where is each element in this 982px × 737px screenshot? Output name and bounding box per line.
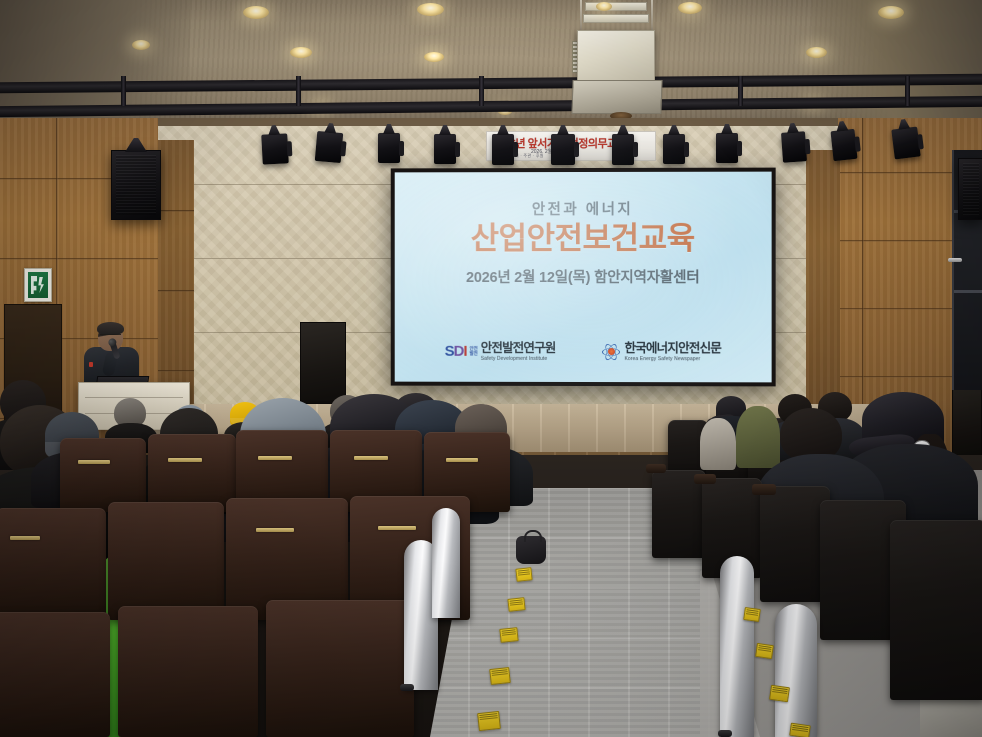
truss-post <box>738 76 743 106</box>
ceiling-downlight <box>290 47 312 58</box>
light-jacket <box>700 418 736 470</box>
projector-mount-plate <box>585 2 647 11</box>
olive-puffer-jacket <box>736 406 780 468</box>
stage-spotlight <box>434 134 456 164</box>
step-safety-label <box>755 643 774 659</box>
hanging-speaker-right <box>958 158 982 220</box>
step-safety-label <box>789 723 811 737</box>
av-rack-cabinet <box>300 322 346 404</box>
seat-number-plate <box>78 460 110 464</box>
step-safety-label <box>769 685 790 702</box>
aisle-handrail[interactable] <box>720 556 754 737</box>
seat-number-plate <box>354 456 388 460</box>
stage-spotlight <box>830 129 857 161</box>
truss-post <box>479 76 484 106</box>
auditorium-seat[interactable] <box>108 502 224 620</box>
aisle-handrail[interactable] <box>775 604 817 737</box>
projection-screen-frame: 안전과 에너지 산업안전보건교육 2026년 2월 12일(목) 함안지역자활센… <box>391 168 776 387</box>
projection-screen: 안전과 에너지 산업안전보건교육 2026년 2월 12일(목) 함안지역자활센… <box>395 172 772 383</box>
truss-post <box>296 76 301 106</box>
atom-icon <box>601 342 621 362</box>
auditorium-seat[interactable] <box>266 600 414 737</box>
kesn-english-name: Korea Energy Safety Newspaper <box>624 356 721 362</box>
auditorium-seat[interactable] <box>148 434 236 512</box>
projector-lens-hood <box>571 80 662 114</box>
floor-bag <box>516 536 546 564</box>
projector <box>577 30 655 82</box>
truss-post <box>121 76 126 106</box>
ceiling-downlight <box>424 52 444 62</box>
step-safety-label <box>477 711 501 731</box>
ceiling-downlight <box>417 3 444 16</box>
seat-number-plate <box>10 536 40 540</box>
handrail-foot <box>718 730 732 737</box>
seat-armrest <box>752 484 776 495</box>
step-safety-label <box>515 567 532 582</box>
handrail-foot <box>400 684 414 691</box>
auditorium-seat[interactable] <box>60 438 146 512</box>
sdi-english-name: Safety Development Institute <box>481 356 556 362</box>
hanging-speaker-left <box>111 150 161 220</box>
step-safety-label <box>489 667 511 685</box>
ceiling-downlight <box>878 6 904 19</box>
ceiling-downlight <box>132 40 150 50</box>
stage-spotlight <box>663 134 685 164</box>
slide-title: 산업안전보건교육 <box>471 223 695 256</box>
glasses-icon <box>100 334 121 338</box>
auditorium-seat[interactable] <box>0 508 106 618</box>
auditorium-photo: 2026년 앞서가는 법정의무교육 2026. 2월 ~ 11월 주최 · 주관… <box>0 0 982 737</box>
stage-spotlight <box>891 127 920 160</box>
slide-eyebrow: 안전과 에너지 <box>532 198 634 219</box>
stage-spotlight <box>315 131 344 163</box>
seat-number-plate <box>168 458 202 462</box>
auditorium-seat[interactable] <box>890 520 982 700</box>
projector-hanger-wire <box>651 0 653 32</box>
auditorium-seat[interactable] <box>118 606 258 737</box>
seat-armrest <box>694 474 716 484</box>
stage-spotlight <box>378 133 400 163</box>
step-safety-label <box>499 627 518 643</box>
seat-number-plate <box>258 456 292 460</box>
seat-number-plate <box>446 458 478 462</box>
stage-spotlight <box>492 134 514 165</box>
seat-armrest <box>646 464 666 473</box>
step-safety-label <box>743 607 761 622</box>
presenter-lapel-badge <box>89 362 93 367</box>
seat-number-plate <box>378 526 416 530</box>
sdi-logo-text: 안전발전연구원 Safety Development Institute <box>481 342 556 362</box>
ceiling-downlight <box>243 6 269 19</box>
projector-indicator-light <box>596 2 612 11</box>
auditorium-seat[interactable] <box>0 612 110 737</box>
stage-spotlight <box>261 133 289 164</box>
ceiling-downlight <box>806 47 827 58</box>
kesn-logo: 한국에너지안전신문 Korea Energy Safety Newspaper <box>601 342 721 362</box>
exit-running-man-icon <box>28 272 48 298</box>
truss-post <box>905 76 910 106</box>
emergency-exit-sign <box>24 268 52 302</box>
ceiling-downlight <box>678 2 702 14</box>
slide-date-venue: 2026년 2월 12일(목) 함안지역자활센터 <box>466 266 699 287</box>
step-safety-label <box>507 597 525 612</box>
sdi-korean-name: 안전발전연구원 <box>481 342 556 355</box>
speaker-grille <box>116 155 156 215</box>
aisle-handrail[interactable] <box>432 508 460 618</box>
seat-number-plate <box>256 528 294 532</box>
projector-mount-plate <box>583 14 649 23</box>
door-handle-icon[interactable] <box>948 258 962 262</box>
projector-hanger-wire <box>580 0 582 32</box>
sdi-mark-icon: SDI <box>445 344 467 359</box>
sdi-logo: SDI 안전발전 안전발전연구원 Safety Development Inst… <box>445 342 556 362</box>
speaker-grille <box>963 163 979 215</box>
stage-spotlight <box>551 134 575 165</box>
slide-logo-row: SDI 안전발전 안전발전연구원 Safety Development Inst… <box>395 342 772 363</box>
kesn-korean-name: 한국에너지안전신문 <box>624 342 721 355</box>
stage-spotlight <box>612 134 634 165</box>
stage-spotlight <box>781 131 807 163</box>
stage-spotlight <box>716 133 738 163</box>
ceiling-right-shadow <box>812 0 982 128</box>
sdi-badge-icon: 안전발전 <box>470 347 478 356</box>
kesn-logo-text: 한국에너지안전신문 Korea Energy Safety Newspaper <box>624 342 721 362</box>
